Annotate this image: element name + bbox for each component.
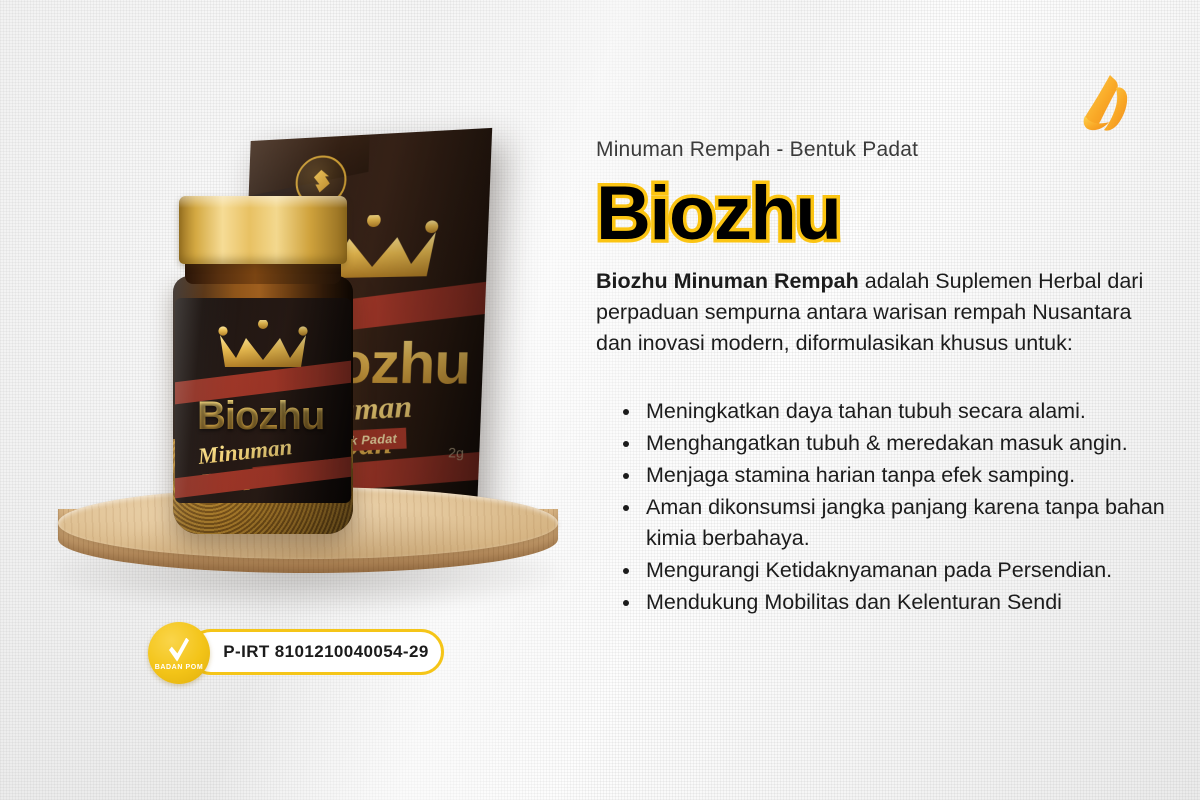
bottle-label: Biozhu Minuman Rempah Bentuk Padat — [175, 298, 351, 503]
crown-icon — [217, 320, 309, 368]
bottle-body: Biozhu Minuman Rempah Bentuk Padat — [173, 276, 353, 534]
benefit-item: Mengurangi Ketidaknyamanan pada Persendi… — [642, 555, 1168, 586]
swoosh-logo-icon — [1076, 72, 1146, 136]
benefit-item: Mendukung Mobilitas dan Kelenturan Sendi — [642, 587, 1168, 618]
description-paragraph: Biozhu Minuman Rempah adalah Suplemen He… — [596, 266, 1162, 360]
product-scene: Biozhu Minuman Rempah Bentuk Padat 2g — [0, 0, 580, 800]
pirt-pill: P-IRT 8101210040054-29 — [188, 629, 444, 675]
page-title: Biozhu — [596, 176, 840, 252]
badan-pom-label: BADAN POM — [155, 664, 204, 671]
check-mark-icon — [169, 638, 189, 662]
product-banner: Biozhu Minuman Rempah Bentuk Padat 2g — [0, 0, 1200, 800]
pirt-number: P-IRT 8101210040054-29 — [203, 642, 428, 662]
content-column: Minuman Rempah - Bentuk Padat Biozhu Bio… — [596, 0, 1176, 800]
bottle-cap — [179, 196, 347, 264]
benefits-list: Meningkatkan daya tahan tubuh secara ala… — [620, 396, 1168, 619]
badan-pom-seal: BADAN POM — [148, 622, 210, 684]
certification-badge: P-IRT 8101210040054-29 BADAN POM — [148, 622, 448, 684]
description-lead: Biozhu Minuman Rempah — [596, 269, 859, 293]
benefit-item: Menghangatkan tubuh & meredakan masuk an… — [642, 428, 1168, 459]
benefit-item: Menjaga stamina harian tanpa efek sampin… — [642, 460, 1168, 491]
benefit-item: Meningkatkan daya tahan tubuh secara ala… — [642, 396, 1168, 427]
eyebrow-text: Minuman Rempah - Bentuk Padat — [596, 138, 918, 162]
product-bottle: Biozhu Minuman Rempah Bentuk Padat — [165, 196, 355, 536]
benefit-item: Aman dikonsumsi jangka panjang karena ta… — [642, 492, 1168, 554]
